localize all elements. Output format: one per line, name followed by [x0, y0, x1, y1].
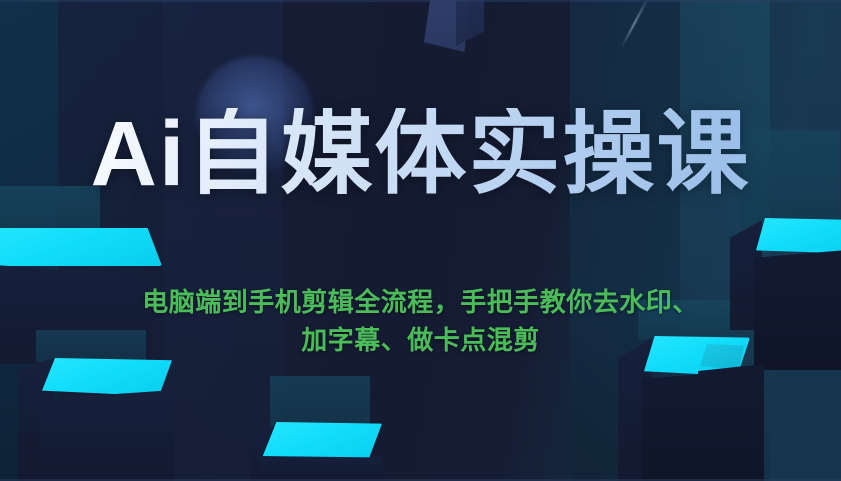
block-bc-column	[270, 376, 370, 428]
block-bl-top-plate	[42, 358, 172, 396]
poster-title: Ai自媒体实操课	[0, 108, 841, 200]
poster-subtitle-line-2: 加字幕、做卡点混剪	[71, 321, 771, 359]
block-bl-front-face	[40, 390, 174, 481]
block-bc-top-plate	[262, 422, 382, 462]
block-ru-top-plate	[756, 218, 841, 254]
block-rl-front-face	[698, 364, 764, 481]
block-bc-front-face	[260, 456, 382, 481]
poster-top-border	[0, 0, 841, 2]
poster-subtitle: 电脑端到手机剪辑全流程，手把手教你去水印、 加字幕、做卡点混剪	[71, 283, 771, 359]
poster-subtitle-line-1: 电脑端到手机剪辑全流程，手把手教你去水印、	[71, 283, 771, 321]
block-left-top-plate	[0, 228, 162, 266]
cyan-block-bottom-center	[290, 376, 490, 481]
course-poster: Ai自媒体实操课 电脑端到手机剪辑全流程，手把手教你去水印、 加字幕、做卡点混剪	[0, 0, 841, 481]
